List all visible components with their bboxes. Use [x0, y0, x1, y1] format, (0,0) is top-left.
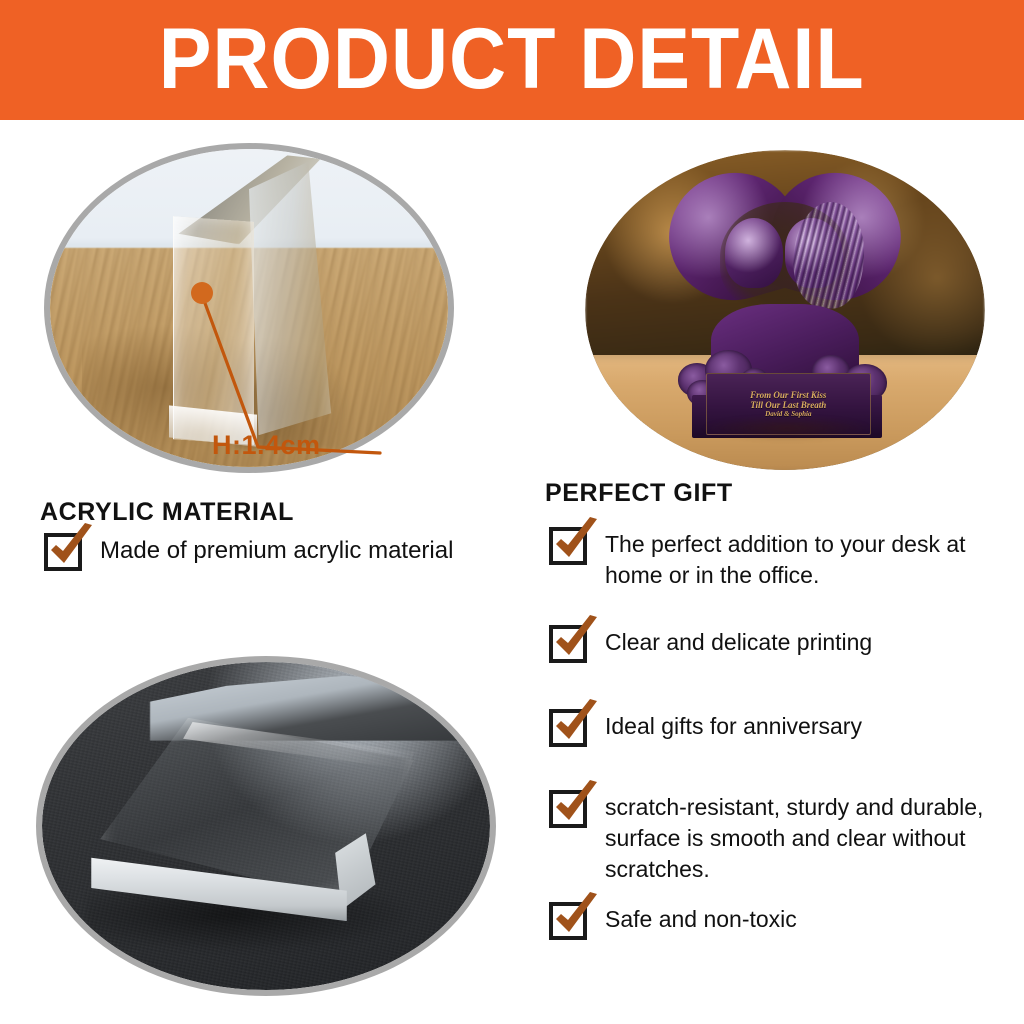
checkbox[interactable] [44, 533, 82, 571]
feature-item: Safe and non-toxic [549, 902, 989, 940]
skull-heart-sculpture: From Our First Kiss Till Our Last Breath… [669, 169, 901, 438]
plaque-line-1: From Our First Kiss [750, 390, 826, 400]
checkmark-icon [45, 523, 95, 573]
feature-item: The perfect addition to your desk at hom… [549, 527, 989, 591]
feature-text: Clear and delicate printing [605, 625, 872, 658]
page-title: PRODUCT DETAIL [159, 16, 865, 102]
feature-text: Made of premium acrylic material [100, 533, 453, 566]
product-detail-page: PRODUCT DETAIL [0, 0, 1024, 1024]
feature-item: Made of premium acrylic material [44, 533, 514, 571]
checkbox[interactable] [549, 790, 587, 828]
header-banner: PRODUCT DETAIL [0, 0, 1024, 120]
section-heading-perfect-gift: PERFECT GIFT [545, 479, 733, 507]
checkmark-icon [550, 892, 600, 942]
checkbox[interactable] [549, 527, 587, 565]
skull-left [725, 218, 783, 287]
feature-item: Clear and delicate printing [549, 625, 989, 663]
feature-text: Safe and non-toxic [605, 902, 797, 935]
acrylic-block-photo [36, 656, 496, 996]
checkmark-icon [550, 699, 600, 749]
checkmark-icon [550, 517, 600, 567]
feature-text: The perfect addition to your desk at hom… [605, 527, 989, 591]
feature-text: scratch-resistant, sturdy and durable, s… [605, 790, 999, 885]
feature-item: Ideal gifts for anniversary [549, 709, 989, 747]
plaque-line-2: Till Our Last Breath [750, 400, 826, 410]
callout-dot [191, 282, 213, 304]
height-callout-label: H:1.4cm [212, 432, 321, 459]
checkmark-icon [550, 615, 600, 665]
sculpture-image: From Our First Kiss Till Our Last Breath… [585, 150, 985, 470]
feature-text: Ideal gifts for anniversary [605, 709, 862, 742]
checkbox[interactable] [549, 902, 587, 940]
checkbox[interactable] [549, 709, 587, 747]
checkmark-icon [550, 780, 600, 830]
feature-item: scratch-resistant, sturdy and durable, s… [549, 790, 999, 885]
sculpture-photo: From Our First Kiss Till Our Last Breath… [585, 150, 985, 470]
acrylic-block-image [42, 662, 490, 990]
sculpture-shadow [701, 416, 873, 440]
section-heading-acrylic-material: ACRYLIC MATERIAL [40, 498, 294, 526]
checkbox[interactable] [549, 625, 587, 663]
